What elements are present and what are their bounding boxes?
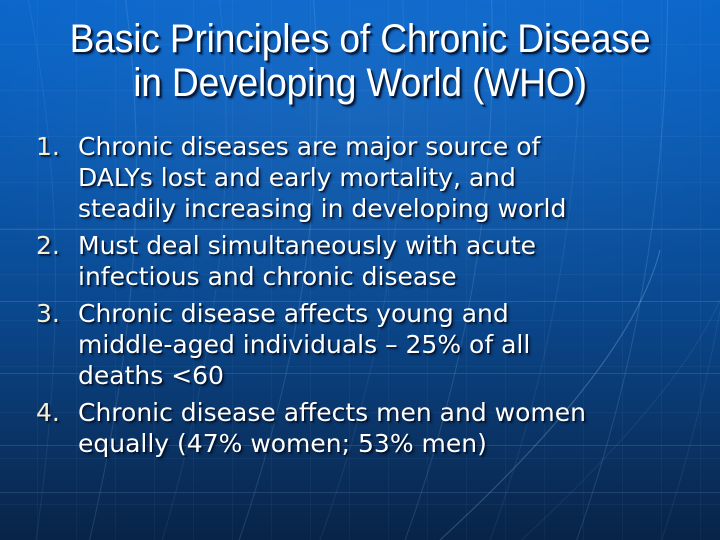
list-item-text: Must deal simultaneously with acute infe… — [78, 230, 696, 292]
list-item: 1. Chronic diseases are major source of … — [36, 131, 696, 224]
slide-content: Basic Principles of Chronic Disease in D… — [0, 0, 720, 540]
list-item: 3. Chronic disease affects young and mid… — [36, 298, 696, 391]
presentation-slide: Basic Principles of Chronic Disease in D… — [0, 0, 720, 540]
list-item-text: Chronic disease affects young and middle… — [78, 298, 696, 391]
slide-title: Basic Principles of Chronic Disease in D… — [44, 17, 676, 105]
list-item-number: 1. — [36, 131, 78, 162]
list-item: 2. Must deal simultaneously with acute i… — [36, 230, 696, 292]
list-item-number: 2. — [36, 230, 78, 261]
slide-body-list: 1. Chronic diseases are major source of … — [36, 131, 696, 465]
list-item-text: Chronic diseases are major source of DAL… — [78, 131, 696, 224]
list-item-number: 4. — [36, 397, 78, 428]
list-item-number: 3. — [36, 298, 78, 329]
list-item: 4. Chronic disease affects men and women… — [36, 397, 696, 459]
list-item-text: Chronic disease affects men and women eq… — [78, 397, 696, 459]
